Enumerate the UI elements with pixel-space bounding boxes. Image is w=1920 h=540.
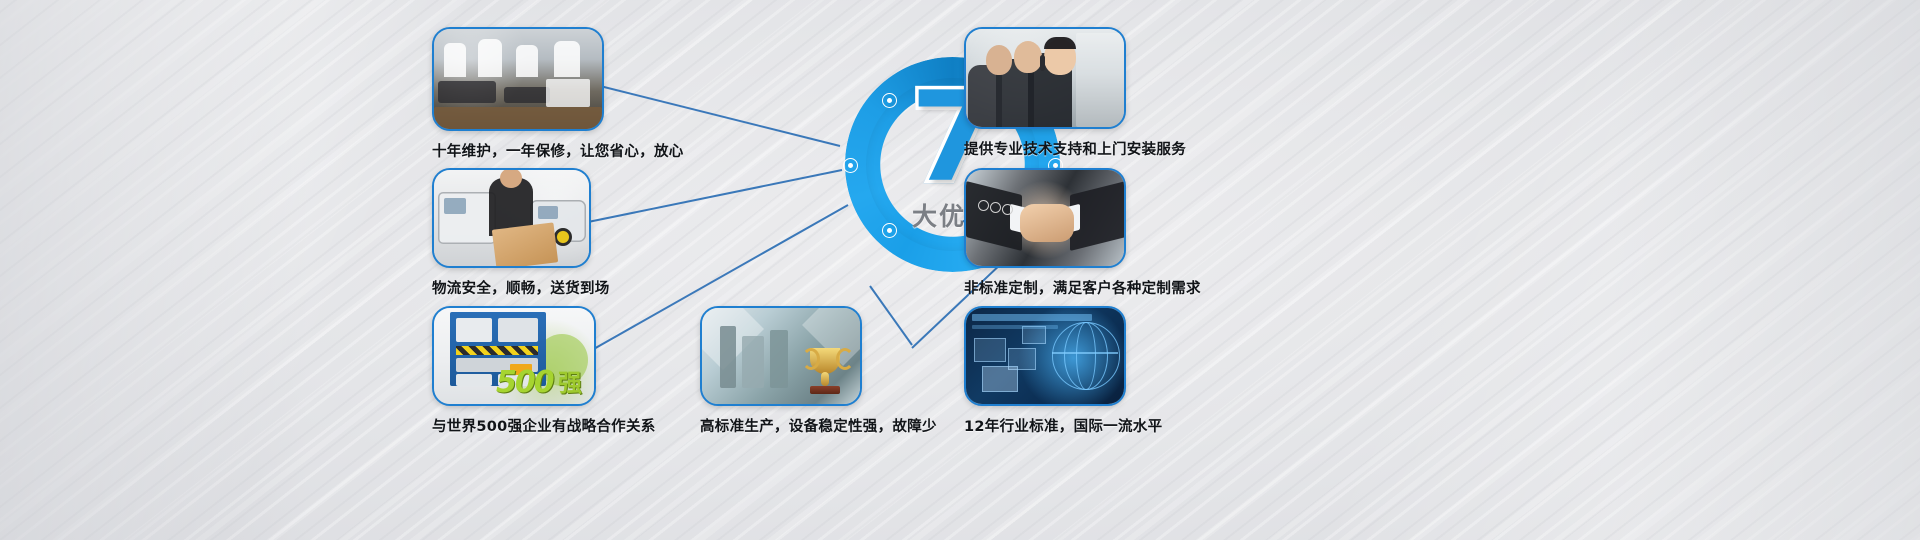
handshake-photo-art	[966, 170, 1124, 266]
machine-500-photo: 500 强	[432, 306, 596, 406]
factory-trophy-photo-art	[702, 308, 860, 404]
machine-500-photo-art: 500 强	[434, 308, 594, 404]
call-center-photo	[964, 27, 1126, 129]
advantage-card-support[interactable]: 提供专业技术支持和上门安装服务	[964, 27, 1186, 159]
advantage-card-logistics[interactable]: 物流安全，顺畅，送货到场	[432, 168, 610, 298]
global-network-photo	[964, 306, 1126, 406]
advantage-card-maintenance[interactable]: 十年维护，一年保修，让您省心，放心	[432, 27, 684, 161]
advantage-caption-maintenance: 十年维护，一年保修，让您省心，放心	[432, 140, 684, 161]
meeting-photo	[432, 27, 604, 131]
handshake-photo	[964, 168, 1126, 268]
logistics-photo-art	[434, 170, 589, 266]
advantage-caption-logistics: 物流安全，顺畅，送货到场	[432, 277, 610, 298]
advantage-caption-quality: 高标准生产，设备稳定性强，故障少	[700, 415, 937, 436]
advantage-caption-standard: 12年行业标准，国际一流水平	[964, 415, 1162, 436]
advantage-card-standard[interactable]: 12年行业标准，国际一流水平	[964, 306, 1162, 436]
advantage-card-quality[interactable]: 高标准生产，设备稳定性强，故障少	[700, 306, 937, 436]
logistics-photo	[432, 168, 591, 268]
call-center-photo-art	[966, 29, 1124, 127]
factory-trophy-photo	[700, 306, 862, 406]
advantage-card-customization[interactable]: 非标准定制，满足客户各种定制需求	[964, 168, 1201, 298]
global-network-photo-art	[966, 308, 1124, 404]
advantages-infographic: 7 大优势 十年维护，一年保修，让您省心，放心	[0, 0, 1920, 540]
meeting-photo-art	[434, 29, 602, 129]
advantage-caption-support: 提供专业技术支持和上门安装服务	[964, 138, 1186, 159]
advantage-caption-customization: 非标准定制，满足客户各种定制需求	[964, 277, 1201, 298]
connector-line-logistics	[588, 170, 842, 222]
advantage-caption-fortune500: 与世界500强企业有战略合作关系	[432, 415, 656, 436]
advantage-card-fortune500[interactable]: 500 强 与世界500强企业有战略合作关系	[432, 306, 656, 436]
